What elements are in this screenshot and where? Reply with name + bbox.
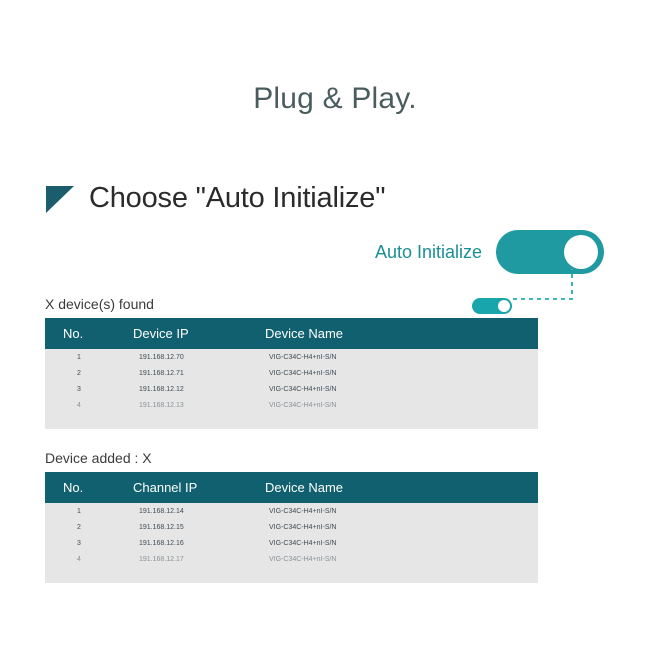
cell-device-name: VIG-C34C-H4+nI-S/N <box>255 397 538 413</box>
table-row[interactable]: 3 191.168.12.16 VIG-C34C-H4+nI-S/N <box>45 535 538 551</box>
cell-no: 1 <box>45 349 125 365</box>
auto-initialize-label: Auto Initialize <box>375 242 482 263</box>
device-added-table: No. Channel IP Device Name 1 191.168.12.… <box>45 472 538 567</box>
table-footer-spacer <box>45 413 538 429</box>
triangle-flag-icon <box>45 184 75 214</box>
cell-device-ip: 191.168.12.13 <box>125 397 255 413</box>
cell-device-ip: 191.168.12.70 <box>125 349 255 365</box>
devices-found-table: No. Device IP Device Name 1 191.168.12.7… <box>45 318 538 413</box>
devices-found-caption: X device(s) found <box>45 296 538 312</box>
cell-device-name: VIG-C34C-H4+nI-S/N <box>255 535 538 551</box>
cell-device-ip: 191.168.12.71 <box>125 365 255 381</box>
cell-device-name: VIG-C34C-H4+nI-S/N <box>255 381 538 397</box>
cell-channel-ip: 191.168.12.16 <box>125 535 255 551</box>
table-row[interactable]: 1 191.168.12.14 VIG-C34C-H4+nI-S/N <box>45 503 538 519</box>
cell-no: 4 <box>45 551 125 567</box>
cell-device-ip: 191.168.12.12 <box>125 381 255 397</box>
cell-no: 2 <box>45 365 125 381</box>
column-header-no[interactable]: No. <box>45 472 125 503</box>
cell-channel-ip: 191.168.12.15 <box>125 519 255 535</box>
auto-initialize-toggle[interactable] <box>496 230 604 274</box>
page-title: Plug & Play. <box>0 82 670 116</box>
cell-device-name: VIG-C34C-H4+nI-S/N <box>255 503 538 519</box>
cell-device-name: VIG-C34C-H4+nI-S/N <box>255 519 538 535</box>
table-row[interactable]: 4 191.168.12.17 VIG-C34C-H4+nI-S/N <box>45 551 538 567</box>
device-added-caption: Device added : X <box>45 450 538 466</box>
table-row[interactable]: 2 191.168.12.15 VIG-C34C-H4+nI-S/N <box>45 519 538 535</box>
cell-channel-ip: 191.168.12.14 <box>125 503 255 519</box>
plug-and-play-slide: Plug & Play. Choose "Auto Initialize" Au… <box>0 0 670 670</box>
table-header-row: No. Device IP Device Name <box>45 318 538 349</box>
table-row[interactable]: 4 191.168.12.13 VIG-C34C-H4+nI-S/N <box>45 397 538 413</box>
column-header-device-name[interactable]: Device Name <box>255 472 538 503</box>
cell-no: 2 <box>45 519 125 535</box>
cell-channel-ip: 191.168.12.17 <box>125 551 255 567</box>
table-header-row: No. Channel IP Device Name <box>45 472 538 503</box>
column-header-channel-ip[interactable]: Channel IP <box>125 472 255 503</box>
device-added-block: Device added : X No. Channel IP Device N… <box>45 450 538 583</box>
column-header-device-ip[interactable]: Device IP <box>125 318 255 349</box>
toggle-knob <box>564 235 598 269</box>
cell-device-name: VIG-C34C-H4+nI-S/N <box>255 349 538 365</box>
cell-no: 3 <box>45 535 125 551</box>
auto-initialize-row: Auto Initialize <box>375 230 604 274</box>
cell-device-name: VIG-C34C-H4+nI-S/N <box>255 365 538 381</box>
cell-device-name: VIG-C34C-H4+nI-S/N <box>255 551 538 567</box>
cell-no: 4 <box>45 397 125 413</box>
cell-no: 3 <box>45 381 125 397</box>
table-row[interactable]: 1 191.168.12.70 VIG-C34C-H4+nI-S/N <box>45 349 538 365</box>
devices-found-block: X device(s) found No. Device IP Device N… <box>45 296 538 429</box>
table-row[interactable]: 2 191.168.12.71 VIG-C34C-H4+nI-S/N <box>45 365 538 381</box>
cell-no: 1 <box>45 503 125 519</box>
table-footer-spacer <box>45 567 538 583</box>
table-row[interactable]: 3 191.168.12.12 VIG-C34C-H4+nI-S/N <box>45 381 538 397</box>
column-header-device-name[interactable]: Device Name <box>255 318 538 349</box>
column-header-no[interactable]: No. <box>45 318 125 349</box>
heading-row: Choose "Auto Initialize" <box>45 182 385 215</box>
heading-text: Choose "Auto Initialize" <box>89 182 385 215</box>
